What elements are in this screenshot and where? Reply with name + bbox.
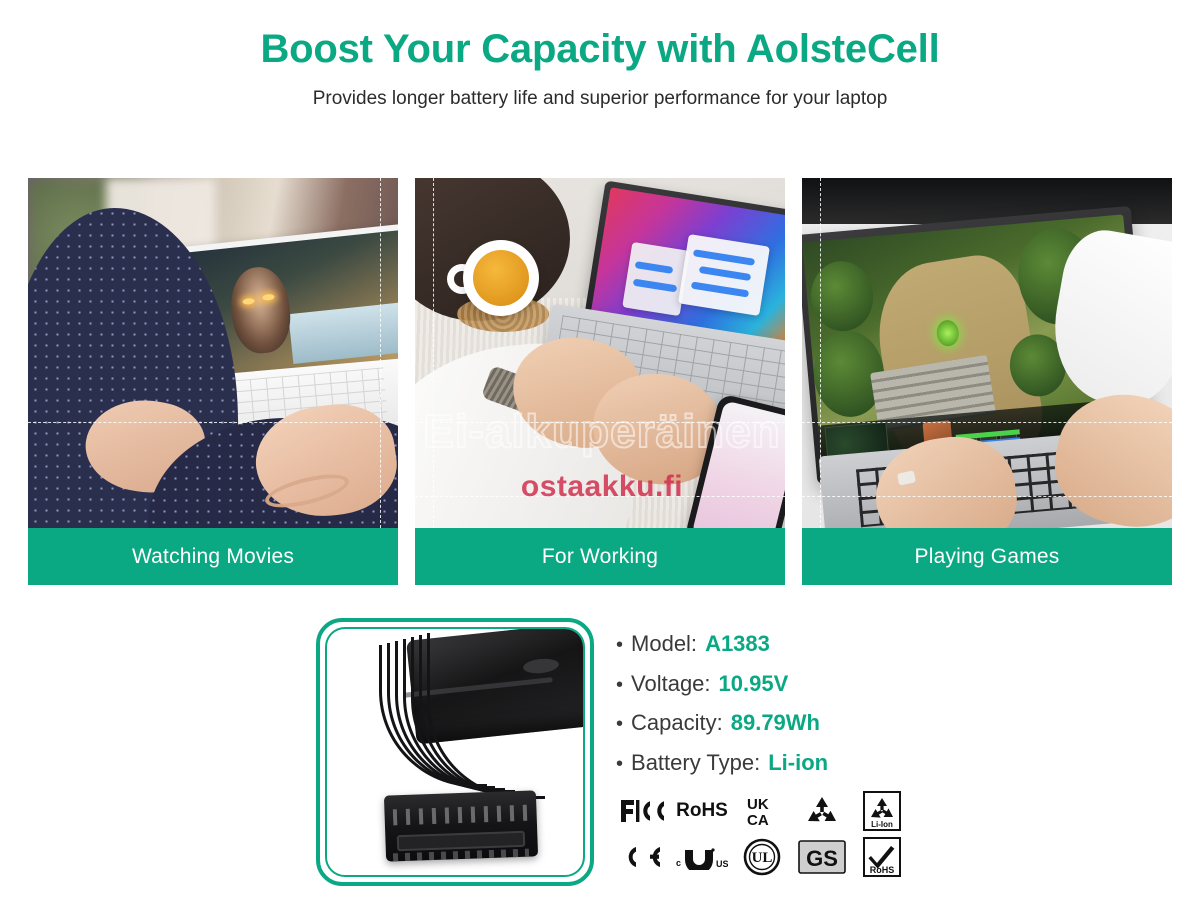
promo-page: Boost Your Capacity with AolsteCell Prov…: [0, 0, 1200, 900]
spec-row-battery-type: • Battery Type: Li-ion: [616, 749, 946, 777]
spec-label: Capacity:: [631, 709, 723, 737]
usecase-card-watching-movies: Watching Movies: [28, 178, 398, 585]
usecase-caption: Watching Movies: [28, 528, 398, 585]
battery-wires: [379, 643, 549, 811]
spec-row-model: • Model: A1383: [616, 630, 946, 658]
ul-icon: UL: [732, 835, 792, 879]
usecase-card-row: Watching Movies: [28, 178, 1172, 585]
rohs-label: RoHS: [676, 800, 728, 822]
svg-text:UL: UL: [752, 850, 773, 866]
product-image: [325, 627, 585, 877]
svg-text:GS: GS: [806, 846, 838, 871]
spec-value: 89.79Wh: [731, 709, 820, 737]
spec-value: 10.95V: [719, 670, 789, 698]
liion-recycle-icon: Li-Ion: [852, 789, 912, 833]
usecase-card-for-working: For Working: [415, 178, 785, 585]
page-title: Boost Your Capacity with AolsteCell: [0, 26, 1200, 72]
spec-row-capacity: • Capacity: 89.79Wh: [616, 709, 946, 737]
usecase-caption: Playing Games: [802, 528, 1172, 585]
svg-text:UK: UK: [747, 796, 769, 813]
photo-watching-movies: [28, 178, 398, 528]
svg-text:CA: CA: [747, 812, 769, 828]
usecase-caption: For Working: [415, 528, 785, 585]
bullet-icon: •: [616, 714, 623, 734]
svg-text:c: c: [676, 858, 681, 868]
product-section: • Model: A1383 • Voltage: 10.95V • Capac…: [0, 612, 1200, 900]
svg-text:RoHS: RoHS: [870, 865, 895, 875]
bullet-icon: •: [616, 754, 623, 774]
certification-badges: RoHS UK CA: [612, 788, 912, 880]
product-image-frame: [316, 618, 594, 886]
gs-icon: GS: [792, 835, 852, 879]
spec-value: A1383: [705, 630, 770, 658]
svg-text:US: US: [716, 859, 728, 869]
rohs-icon: RoHS: [672, 789, 732, 833]
certification-row-2: c US UL: [612, 834, 912, 880]
spec-label: Battery Type:: [631, 749, 760, 777]
spec-label: Model:: [631, 630, 697, 658]
spec-list: • Model: A1383 • Voltage: 10.95V • Capac…: [616, 630, 946, 788]
svg-text:Li-Ion: Li-Ion: [871, 820, 893, 829]
photo-playing-games: [802, 178, 1172, 528]
fcc-icon: [612, 789, 672, 833]
header: Boost Your Capacity with AolsteCell Prov…: [0, 0, 1200, 110]
cul-us-icon: c US: [672, 835, 732, 879]
certification-row-1: RoHS UK CA: [612, 788, 912, 834]
usecase-card-playing-games: Playing Games: [802, 178, 1172, 585]
spec-row-voltage: • Voltage: 10.95V: [616, 670, 946, 698]
ukca-icon: UK CA: [732, 789, 792, 833]
page-subtitle: Provides longer battery life and superio…: [0, 88, 1200, 110]
spec-label: Voltage:: [631, 670, 711, 698]
bullet-icon: •: [616, 675, 623, 695]
ce-icon: [612, 835, 672, 879]
bullet-icon: •: [616, 635, 623, 655]
recycle-icon: [792, 789, 852, 833]
photo-for-working: [415, 178, 785, 528]
rohs-check-icon: RoHS: [852, 835, 912, 879]
spec-value: Li-ion: [768, 749, 828, 777]
